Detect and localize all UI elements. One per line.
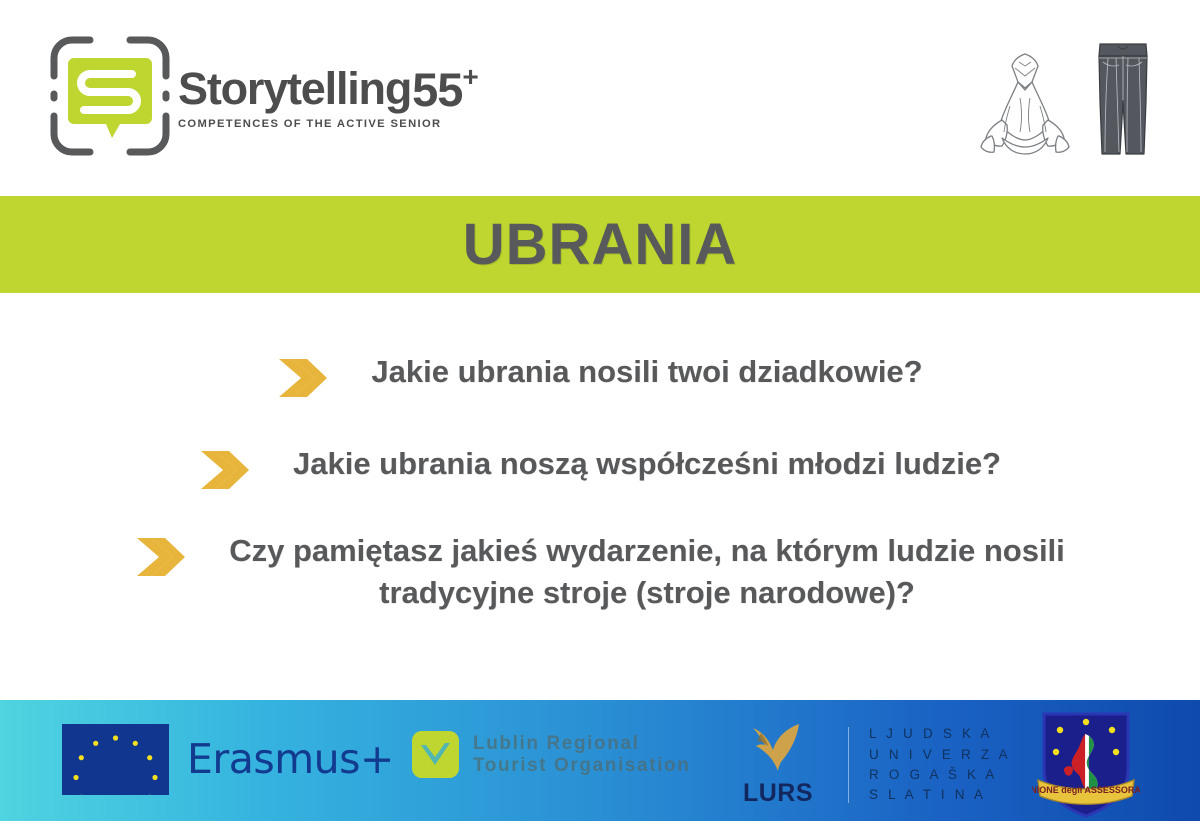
brand-subtitle: COMPETENCES OF THE ACTIVE SENIOR [178,118,479,130]
lurs-logo: LURS L J U D S K A U N I V E R Z A R O G… [728,722,1011,808]
questions-section: Jakie ubrania nosili twoi dziadkowie? Ja… [0,293,1200,700]
question-item: Jakie ubrania noszą współcześni młodzi l… [0,443,1200,491]
page-header: Storytelling 55 + COMPETENCES OF THE ACT… [0,0,1200,196]
brand-plus-sign: + [462,63,478,91]
lurs-divider [848,727,849,803]
lrto-line-1: Lublin Regional [473,733,640,754]
lrto-logo: Lublin Regional Tourist Organisation [412,731,690,778]
chevron-right-icon [135,536,187,578]
lurs-uni-line-3: R O G A Š K A [869,767,998,782]
lurs-bird-icon [747,722,809,777]
question-text: Jakie ubrania noszą współcześni młodzi l… [293,443,1001,485]
page-footer: Erasmus+ Lublin Regional Tourist Organis… [0,700,1200,821]
checkmark-badge-icon [412,731,459,778]
dress-icon [978,48,1072,163]
page-title-banner: UBRANIA [0,196,1200,293]
eu-flag-icon [62,724,169,795]
lurs-university-name: L J U D S K A U N I V E R Z A R O G A Š … [869,724,1011,806]
chevron-right-icon [199,449,251,491]
brand-title: Storytelling [178,66,411,111]
page-title: UBRANIA [463,211,737,278]
lurs-uni-line-1: L J U D S K A [869,726,993,741]
question-text: Czy pamiętasz jakieś wydarzenie, na któr… [229,530,1065,614]
crest-banner-text: UNIONE degli ASSESSORATI [1032,785,1140,795]
lurs-acronym: LURS [743,779,813,808]
brand-age-badge: 55 [412,66,462,113]
lrto-line-2: Tourist Organisation [473,755,690,776]
lurs-uni-line-4: S L A T I N A [869,787,986,802]
question-item: Czy pamiętasz jakieś wydarzenie, na któr… [0,530,1200,614]
question-text: Jakie ubrania nosili twoi dziadkowie? [371,351,922,393]
erasmus-logo: Erasmus+ [62,724,394,795]
storytelling-logo: Storytelling 55 + COMPETENCES OF THE ACT… [48,34,479,158]
question-item: Jakie ubrania nosili twoi dziadkowie? [0,351,1200,399]
question-text-line2: tradycyjne stroje (stroje narodowe)? [379,575,915,610]
lrto-wordmark: Lublin Regional Tourist Organisation [473,733,690,776]
question-text-line1: Czy pamiętasz jakieś wydarzenie, na któr… [229,533,1065,568]
chevron-right-icon [277,357,329,399]
storytelling-speech-bubble-s-icon [48,34,172,158]
clothing-illustrations [978,40,1152,163]
jeans-icon [1094,40,1152,163]
italy-shield-crest-icon: UNIONE degli ASSESSORATI [1032,807,1140,824]
italy-crest-logo: UNIONE degli ASSESSORATI [1032,708,1140,825]
lurs-uni-line-2: U N I V E R Z A [869,747,1011,762]
storytelling-logo-text: Storytelling 55 + COMPETENCES OF THE ACT… [178,66,479,130]
erasmus-wordmark: Erasmus+ [187,739,394,780]
